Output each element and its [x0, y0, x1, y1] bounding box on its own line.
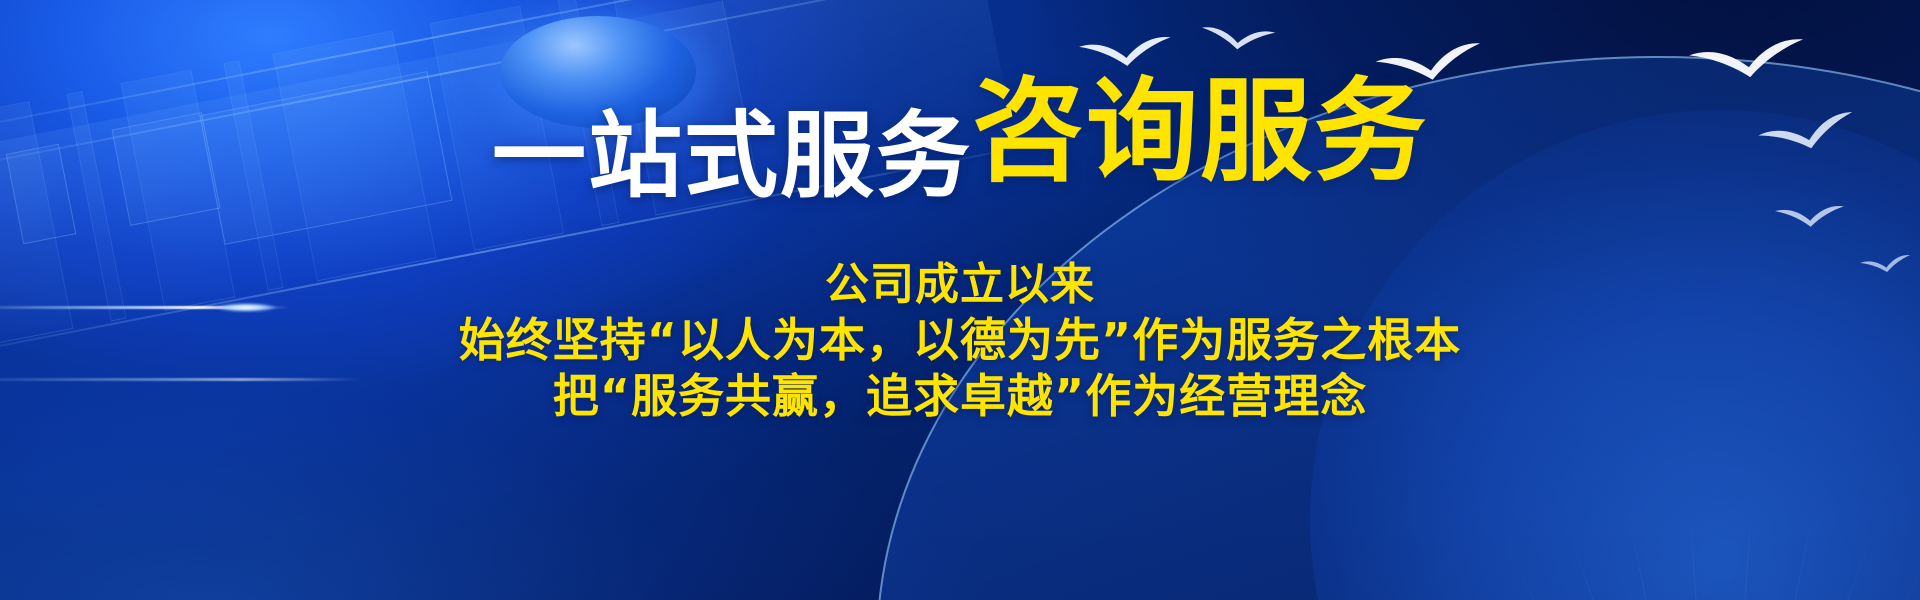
- headline: 一站式服务咨询服务: [0, 76, 1920, 188]
- seagull-icon: [1199, 23, 1278, 55]
- headline-accent: 咨询服务: [972, 67, 1428, 197]
- subtitle-line-2: 始终坚持“以人为本，以德为先”作为服务之根本: [0, 312, 1920, 368]
- subtitle-line-3: 把“服务共赢，追求卓越”作为经营理念: [0, 368, 1920, 424]
- seagull-icon: [1773, 202, 1847, 232]
- headline-primary: 一站式服务: [492, 102, 972, 211]
- subtitle-block: 公司成立以来 始终坚持“以人为本，以德为先”作为服务之根本 把“服务共赢，追求卓…: [0, 258, 1920, 424]
- subtitle-line-1: 公司成立以来: [0, 258, 1920, 312]
- promotional-banner: 一站式服务咨询服务 公司成立以来 始终坚持“以人为本，以德为先”作为服务之根本 …: [0, 0, 1920, 600]
